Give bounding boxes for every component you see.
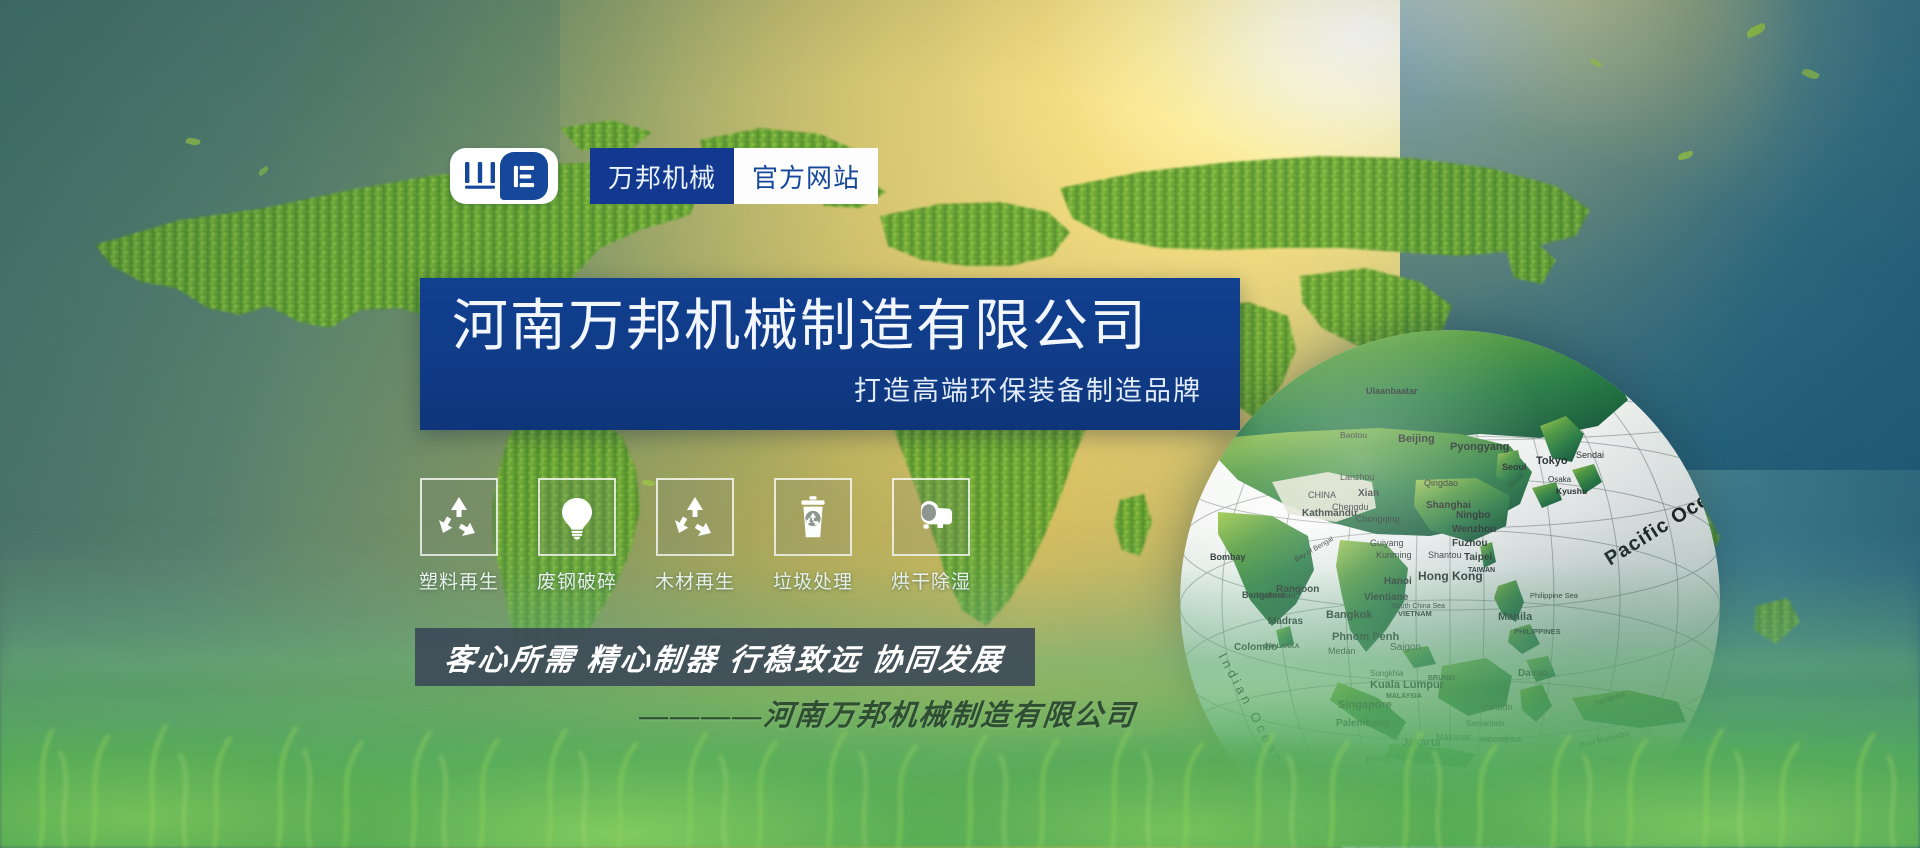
svg-text:Qingdao: Qingdao — [1424, 478, 1458, 488]
svg-text:Sendai: Sendai — [1576, 450, 1604, 460]
hero-banner: Ulaanbaatar Beijing Baotou Pyongyang Seo… — [0, 0, 1920, 848]
svg-text:Kathmandu: Kathmandu — [1302, 508, 1357, 519]
svg-text:Ulaanbaatar: Ulaanbaatar — [1366, 386, 1418, 396]
svg-text:Lanzhou: Lanzhou — [1340, 472, 1375, 482]
slogan-banner: 客心所需 精心制器 行稳致远 协同发展 — [415, 628, 1035, 686]
slogan-signature: ————河南万邦机械制造有限公司 — [638, 692, 1122, 734]
site-header: 万邦机械 官方网站 — [450, 148, 878, 204]
svg-text:CHINA: CHINA — [1308, 490, 1336, 500]
logo-w-icon — [460, 156, 500, 196]
tab-brand[interactable]: 万邦机械 — [590, 148, 734, 204]
svg-text:Pyongyang: Pyongyang — [1450, 441, 1509, 453]
slogan-text: 客心所需 精心制器 行稳致远 协同发展 — [443, 635, 1008, 679]
svg-text:Tokyo: Tokyo — [1536, 455, 1568, 467]
hero-title-box: 河南万邦机械制造有限公司 打造高端环保装备制造品牌 — [420, 278, 1240, 430]
svg-text:Ningbo: Ningbo — [1456, 510, 1490, 521]
tab-official-site[interactable]: 官方网站 — [734, 148, 878, 204]
svg-text:Kyushu: Kyushu — [1556, 486, 1587, 496]
logo-b-icon — [500, 152, 548, 200]
svg-text:Baotou: Baotou — [1340, 430, 1367, 440]
svg-text:Xian: Xian — [1358, 488, 1379, 499]
wanbang-logo[interactable] — [450, 148, 558, 204]
svg-text:Osaka: Osaka — [1548, 475, 1572, 484]
svg-text:Beijing: Beijing — [1398, 433, 1435, 445]
page-subtitle: 打造高端环保装备制造品牌 — [452, 369, 1206, 408]
header-tabs: 万邦机械 官方网站 — [590, 148, 878, 204]
svg-text:Seoul: Seoul — [1502, 462, 1527, 472]
page-title: 河南万邦机械制造有限公司 — [452, 296, 1206, 355]
svg-text:Chongqing: Chongqing — [1356, 514, 1400, 524]
